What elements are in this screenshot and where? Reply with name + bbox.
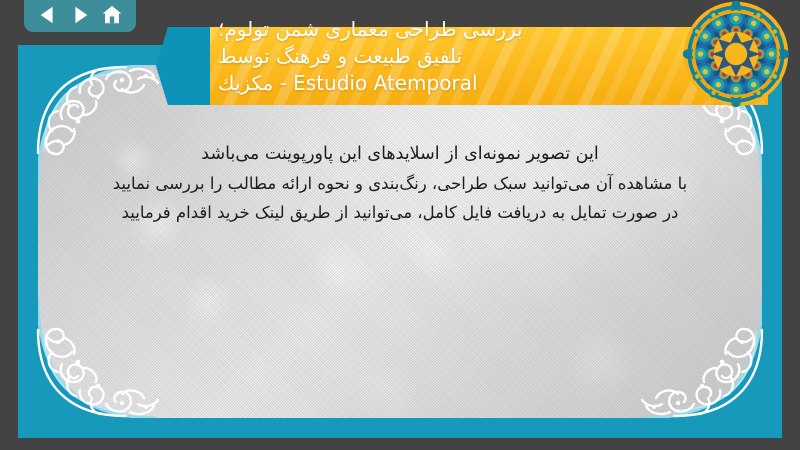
body-line-3: در صورت تمایل به دریافت فایل کامل، می‌تو… [60, 198, 740, 227]
home-button[interactable] [101, 4, 123, 26]
previous-triangle-icon [37, 4, 59, 26]
home-icon [101, 4, 123, 26]
persian-mandala-medallion [680, 0, 792, 110]
next-triangle-icon [69, 4, 91, 26]
slide-background-bokeh [38, 65, 762, 418]
body-line-1: این تصویر نمونه‌ای از اسلایدهای این پاور… [60, 140, 740, 169]
previous-button[interactable] [37, 4, 59, 26]
body-line-2: با مشاهده آن می‌توانید سبک طراحی، رنگ‌بن… [60, 169, 740, 198]
next-button[interactable] [69, 4, 91, 26]
title-line-3: Estudio Atemporal - مکزیك [218, 67, 478, 100]
slide-body-text: این تصویر نمونه‌ای از اسلایدهای این پاور… [60, 140, 740, 227]
navigation-bar [24, 0, 136, 32]
